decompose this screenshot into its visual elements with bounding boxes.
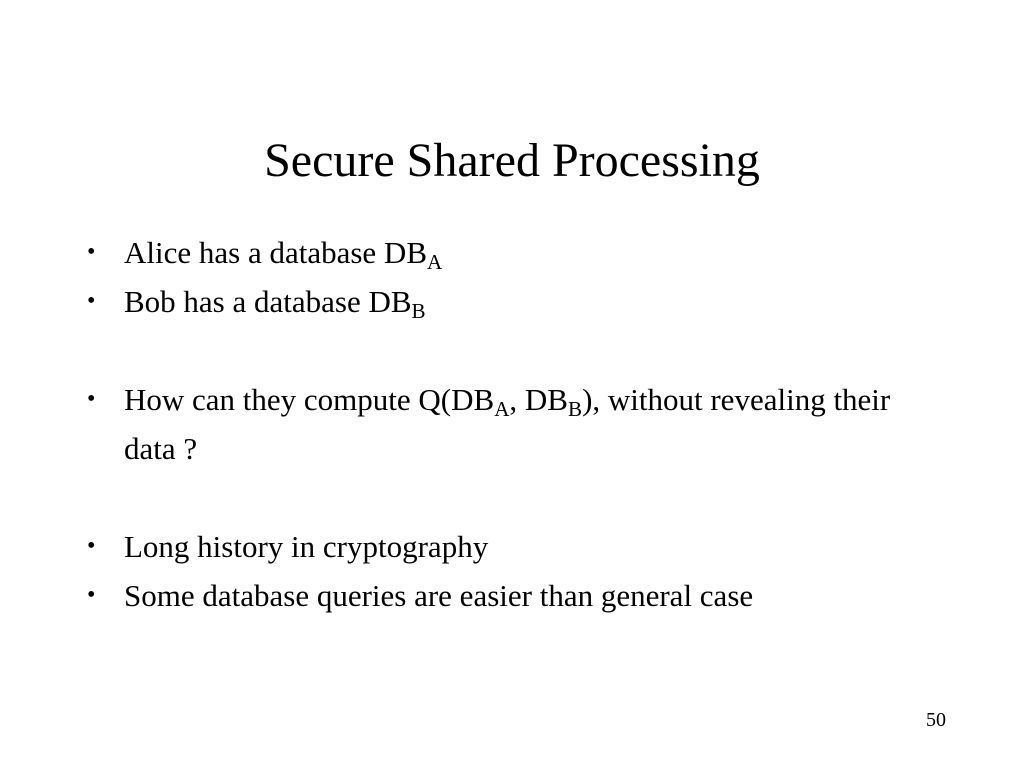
- bullet-text-prefix: Alice has a database DB: [124, 235, 427, 270]
- bullet-subscript-secondary: B: [568, 397, 582, 421]
- list-item: • Some database queries are easier than …: [82, 571, 972, 620]
- list-item-text: Bob has a database DBB: [124, 277, 934, 326]
- blank-line-spacer: [82, 326, 972, 375]
- slide-title: Secure Shared Processing: [0, 132, 1024, 190]
- list-item-text: Some database queries are easier than ge…: [124, 571, 934, 620]
- list-item-text: Alice has a database DBA: [124, 228, 934, 277]
- bullet-point-icon: •: [82, 571, 124, 620]
- bullet-point-icon: •: [82, 277, 124, 326]
- bullet-point-icon: •: [82, 522, 124, 571]
- bullet-text-prefix: Long history in cryptography: [124, 529, 488, 564]
- page-number: 50: [926, 708, 946, 732]
- bullet-point-icon: •: [82, 375, 124, 424]
- bullet-list: • Alice has a database DBA • Bob has a d…: [82, 228, 972, 620]
- bullet-subscript: A: [494, 397, 509, 421]
- list-item: • Alice has a database DBA: [82, 228, 972, 277]
- bullet-text-prefix: How can they compute Q(DB: [124, 382, 494, 417]
- bullet-subscript: B: [412, 299, 426, 323]
- bullet-text-middle: , DB: [509, 382, 568, 417]
- list-item: • How can they compute Q(DBA, DBB), with…: [82, 375, 972, 473]
- bullet-text-prefix: Some database queries are easier than ge…: [124, 578, 753, 613]
- list-item: • Bob has a database DBB: [82, 277, 972, 326]
- bullet-subscript: A: [427, 250, 442, 274]
- bullet-text-prefix: Bob has a database DB: [124, 284, 412, 319]
- blank-line-spacer: [82, 473, 972, 522]
- presentation-slide: Secure Shared Processing • Alice has a d…: [0, 0, 1024, 768]
- list-item-text: How can they compute Q(DBA, DBB), withou…: [124, 375, 934, 473]
- list-item: • Long history in cryptography: [82, 522, 972, 571]
- bullet-point-icon: •: [82, 228, 124, 277]
- list-item-text: Long history in cryptography: [124, 522, 934, 571]
